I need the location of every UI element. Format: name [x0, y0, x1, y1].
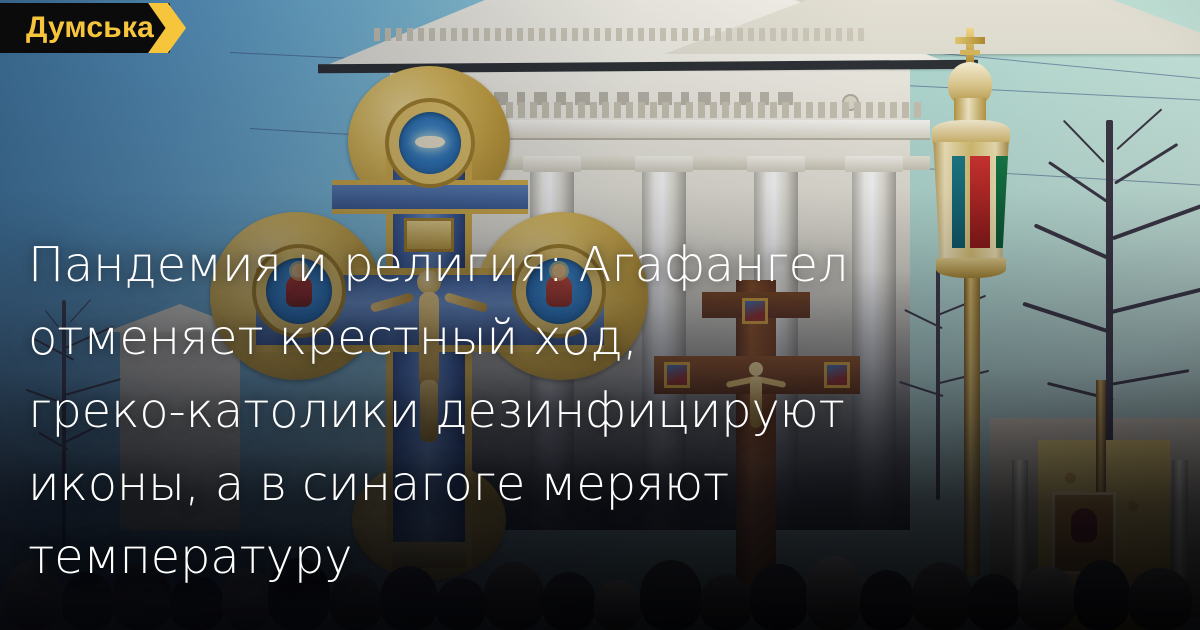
- headline-line: температуру: [28, 521, 928, 594]
- logo-text: Думська: [26, 13, 154, 43]
- headline-line: греко-католики дезинфицируют: [28, 375, 928, 448]
- headline-line: иконы, а в синагоге меряют: [28, 448, 928, 521]
- headline-line: отменяет крестный ход,: [28, 302, 928, 375]
- logo-plate: Думська: [0, 3, 170, 53]
- article-share-card: Думська Пандемия и религия: Агафангел от…: [0, 0, 1200, 630]
- headline-line: Пандемия и религия: Агафангел: [28, 229, 928, 302]
- site-logo[interactable]: Думська: [0, 3, 186, 53]
- article-headline: Пандемия и религия: Агафангел отменяет к…: [28, 229, 928, 594]
